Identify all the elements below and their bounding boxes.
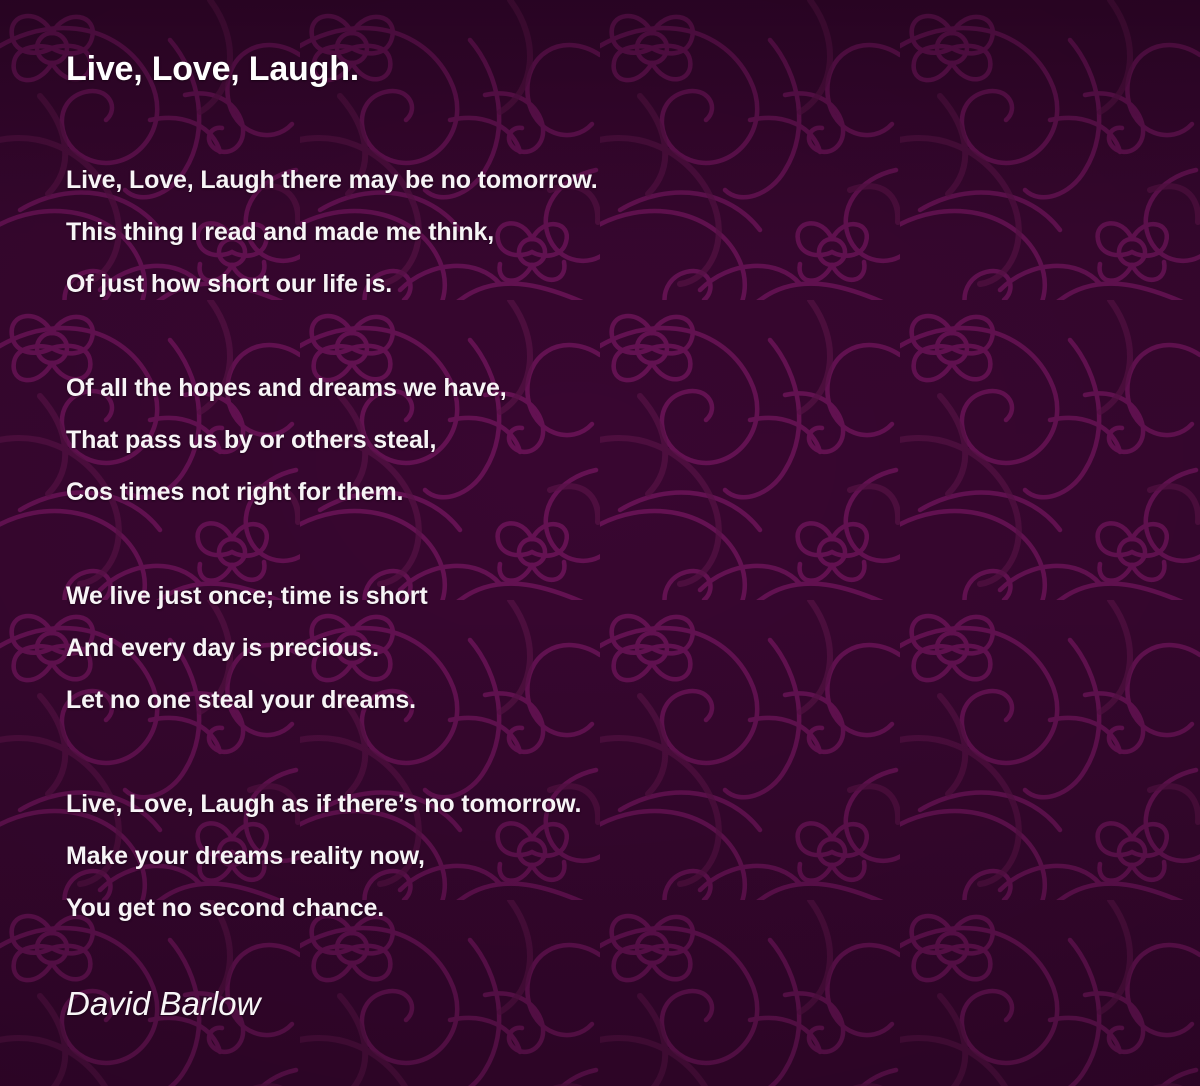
stanza: We live just once; time is short And eve…	[66, 570, 1160, 726]
poem-card: Live, Love, Laugh. Live, Love, Laugh the…	[0, 0, 1200, 1086]
poem-line: Cos times not right for them.	[66, 466, 1160, 518]
poem-body: Live, Love, Laugh there may be no tomorr…	[66, 154, 1160, 986]
poem-line: Live, Love, Laugh there may be no tomorr…	[66, 154, 1160, 206]
stanza: Of all the hopes and dreams we have, Tha…	[66, 362, 1160, 518]
poem-line: Make your dreams reality now,	[66, 830, 1160, 882]
poem-line: That pass us by or others steal,	[66, 414, 1160, 466]
poem-content: Live, Love, Laugh. Live, Love, Laugh the…	[66, 0, 1160, 1086]
page-title: Live, Love, Laugh.	[66, 52, 359, 86]
poem-author: David Barlow	[66, 986, 260, 1022]
stanza: Live, Love, Laugh there may be no tomorr…	[66, 154, 1160, 310]
poem-line: We live just once; time is short	[66, 570, 1160, 622]
poem-line: Let no one steal your dreams.	[66, 674, 1160, 726]
poem-line: You get no second chance.	[66, 882, 1160, 934]
poem-line: Of all the hopes and dreams we have,	[66, 362, 1160, 414]
poem-line: Of just how short our life is.	[66, 258, 1160, 310]
poem-line: And every day is precious.	[66, 622, 1160, 674]
poem-line: This thing I read and made me think,	[66, 206, 1160, 258]
poem-line: Live, Love, Laugh as if there’s no tomor…	[66, 778, 1160, 830]
stanza: Live, Love, Laugh as if there’s no tomor…	[66, 778, 1160, 934]
